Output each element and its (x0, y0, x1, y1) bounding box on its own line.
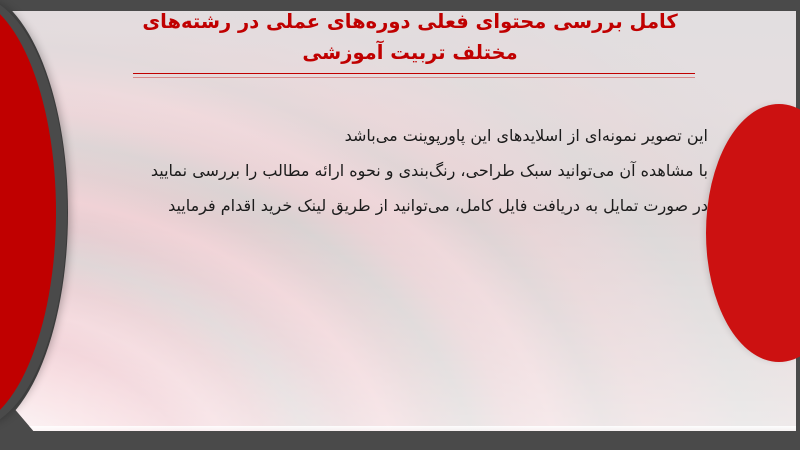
title-underline-rule (133, 73, 695, 74)
title-underline-rule-shadow (133, 77, 695, 78)
slide-title-line-1: کامل بررسی محتوای فعلی دوره‌های عملی در … (110, 6, 710, 37)
presentation-slide: کامل بررسی محتوای فعلی دوره‌های عملی در … (0, 0, 800, 450)
slide-title: کامل بررسی محتوای فعلی دوره‌های عملی در … (110, 6, 710, 68)
slide-title-line-2: مختلف تربیت آموزشی (110, 37, 710, 68)
body-line-3: در صورت تمایل به دریافت فایل کامل، می‌تو… (108, 188, 708, 223)
plate-bottom-highlight (0, 426, 796, 431)
slide-body-text: این تصویر نمونه‌ای از اسلایدهای این پاور… (108, 118, 708, 223)
slide-frame-bottom (0, 430, 800, 450)
body-line-1: این تصویر نمونه‌ای از اسلایدهای این پاور… (108, 118, 708, 153)
body-line-2: با مشاهده آن می‌توانید سبک طراحی، رنگ‌بن… (108, 153, 708, 188)
